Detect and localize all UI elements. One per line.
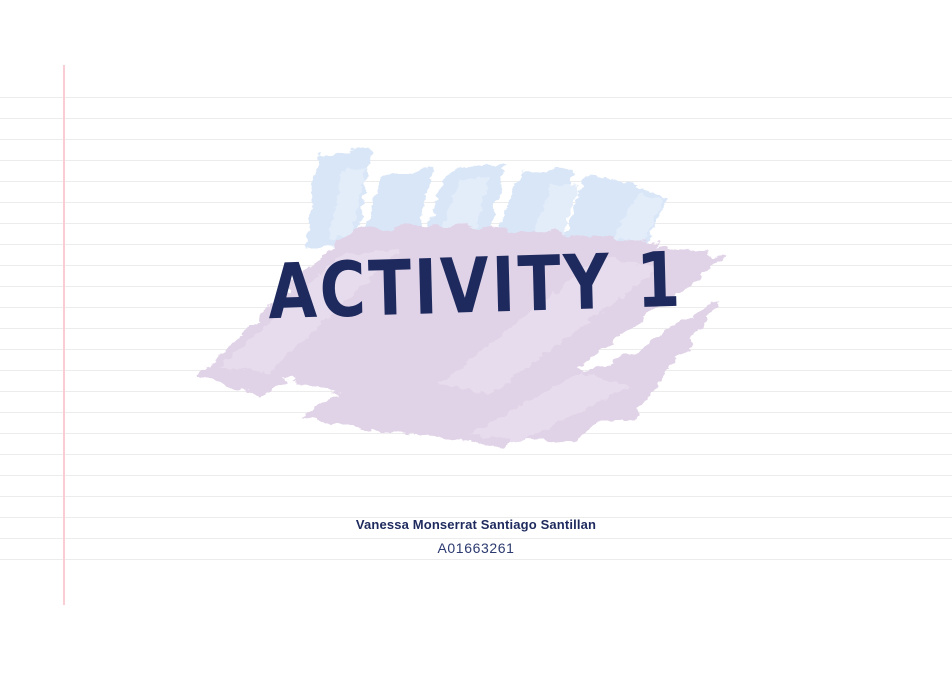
brushstroke-artwork [0, 0, 952, 673]
notebook-rule-line [0, 244, 952, 245]
notebook-rule-line [0, 433, 952, 434]
lavender-brushstroke-icon [196, 224, 726, 448]
student-id: A01663261 [0, 539, 952, 557]
notebook-rule-line [0, 496, 952, 497]
lavender-brushstroke-highlight-icon [220, 250, 660, 442]
notebook-rule-line [0, 223, 952, 224]
notebook-rule-line [0, 181, 952, 182]
notebook-rule-line [0, 454, 952, 455]
notebook-rule-line [0, 118, 952, 119]
title-container: ACTIVITY 1 [0, 243, 952, 329]
notebook-rule-line [0, 391, 952, 392]
notebook-rule-line [0, 265, 952, 266]
notebook-ruled-lines [0, 0, 952, 673]
blue-brushstroke-icon [305, 146, 668, 254]
notebook-rule-line [0, 307, 952, 308]
notebook-rule-line [0, 328, 952, 329]
title-slide: ACTIVITY 1 Vanessa Monserrat Santiago Sa… [0, 0, 952, 673]
author-name: Vanessa Monserrat Santiago Santillan [0, 516, 952, 534]
notebook-rule-line [0, 370, 952, 371]
notebook-rule-line [0, 475, 952, 476]
page-title: ACTIVITY 1 [268, 237, 685, 336]
blue-brushstroke-highlight-icon [330, 166, 664, 248]
notebook-rule-line [0, 139, 952, 140]
notebook-rule-line [0, 97, 952, 98]
notebook-rule-line [0, 349, 952, 350]
notebook-rule-line [0, 202, 952, 203]
notebook-rule-line [0, 412, 952, 413]
notebook-rule-line [0, 559, 952, 560]
notebook-rule-line [0, 160, 952, 161]
credits-block: Vanessa Monserrat Santiago Santillan A01… [0, 516, 952, 557]
notebook-rule-line [0, 286, 952, 287]
